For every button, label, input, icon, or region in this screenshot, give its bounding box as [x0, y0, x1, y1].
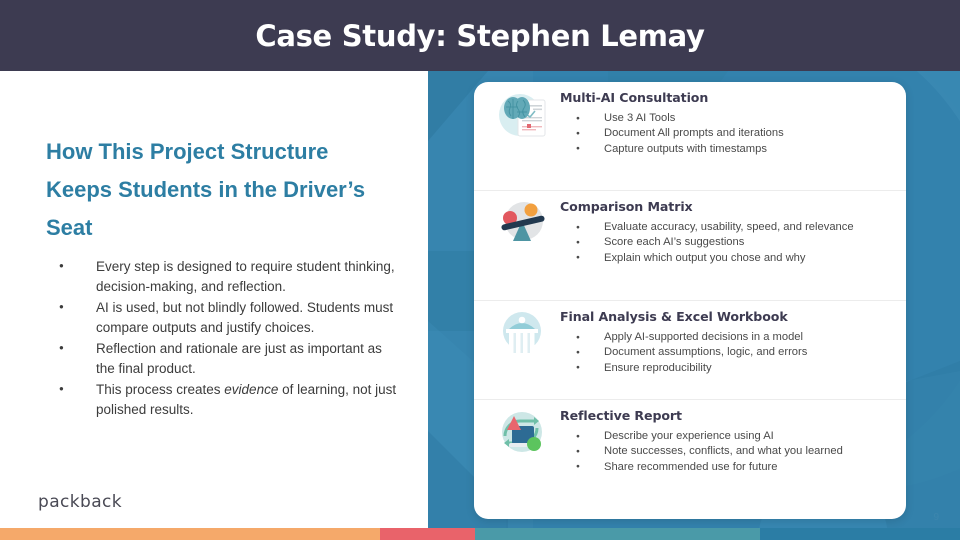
bullet-emphasis: evidence — [224, 382, 278, 397]
list-item: Evaluate accuracy, usability, speed, and… — [574, 220, 892, 235]
card-section-bullets: Use 3 AI Tools Document All prompts and … — [560, 111, 892, 157]
list-item: Apply AI-supported decisions in a model — [574, 330, 892, 345]
balance-scale-icon — [490, 191, 554, 255]
page-number: 9 — [933, 512, 939, 523]
card-section-bullets: Apply AI-supported decisions in a model … — [560, 330, 892, 376]
card-section: Reflective Report Describe your experien… — [474, 400, 906, 519]
bottom-color-strip — [0, 528, 960, 540]
list-item: Document assumptions, logic, and errors — [574, 345, 892, 360]
card-section: Final Analysis & Excel Workbook Apply AI… — [474, 301, 906, 400]
strip-segment-blue — [760, 528, 960, 540]
reflective-loop-icon — [490, 400, 554, 464]
bullet-text: This process creates — [96, 382, 224, 397]
card-section-title: Multi-AI Consultation — [560, 90, 892, 105]
packback-logo: packback — [38, 492, 122, 512]
brain-document-icon — [490, 82, 554, 146]
strip-segment-orange — [0, 528, 380, 540]
slide-root: How This Project Structure Keeps Student… — [0, 0, 960, 540]
section-heading: How This Project Structure Keeps Student… — [46, 133, 396, 247]
strip-segment-teal — [475, 528, 760, 540]
list-item: Capture outputs with timestamps — [574, 142, 892, 157]
card-section-bullets: Describe your experience using AI Note s… — [560, 429, 892, 475]
card-section-body: Multi-AI Consultation Use 3 AI Tools Doc… — [554, 82, 892, 157]
left-bullet-list: Every step is designed to require studen… — [54, 257, 404, 421]
list-item: Explain which output you chose and why — [574, 251, 892, 266]
bullet-text: Every step is designed to require studen… — [96, 259, 395, 294]
list-item: Reflection and rationale are just as imp… — [54, 339, 404, 379]
left-content-area: How This Project Structure Keeps Student… — [0, 71, 428, 528]
page-title: Case Study: Stephen Lemay — [0, 0, 960, 71]
list-item: Describe your experience using AI — [574, 429, 892, 444]
card-section-body: Comparison Matrix Evaluate accuracy, usa… — [554, 191, 892, 266]
list-item: This process creates evidence of learnin… — [54, 380, 404, 420]
list-item: Score each AI’s suggestions — [574, 235, 892, 250]
bullet-text: Reflection and rationale are just as imp… — [96, 341, 382, 376]
list-item: Every step is designed to require studen… — [54, 257, 404, 297]
list-item: Document All prompts and iterations — [574, 126, 892, 141]
list-item: Ensure reproducibility — [574, 361, 892, 376]
list-item: Share recommended use for future — [574, 460, 892, 475]
card-section-title: Comparison Matrix — [560, 199, 892, 214]
data-funnel-icon — [490, 301, 554, 365]
bullet-text: AI is used, but not blindly followed. St… — [96, 300, 393, 335]
card-section-body: Final Analysis & Excel Workbook Apply AI… — [554, 301, 892, 376]
card-section: Multi-AI Consultation Use 3 AI Tools Doc… — [474, 82, 906, 191]
list-item: AI is used, but not blindly followed. St… — [54, 298, 404, 338]
strip-segment-coral — [380, 528, 475, 540]
card-section: Comparison Matrix Evaluate accuracy, usa… — [474, 191, 906, 301]
card-section-title: Reflective Report — [560, 408, 892, 423]
card-section-body: Reflective Report Describe your experien… — [554, 400, 892, 475]
card-section-bullets: Evaluate accuracy, usability, speed, and… — [560, 220, 892, 266]
card-section-title: Final Analysis & Excel Workbook — [560, 309, 892, 324]
list-item: Note successes, conflicts, and what you … — [574, 444, 892, 459]
list-item: Use 3 AI Tools — [574, 111, 892, 126]
steps-card: Multi-AI Consultation Use 3 AI Tools Doc… — [474, 82, 906, 519]
header-bar: Case Study: Stephen Lemay — [0, 0, 960, 71]
